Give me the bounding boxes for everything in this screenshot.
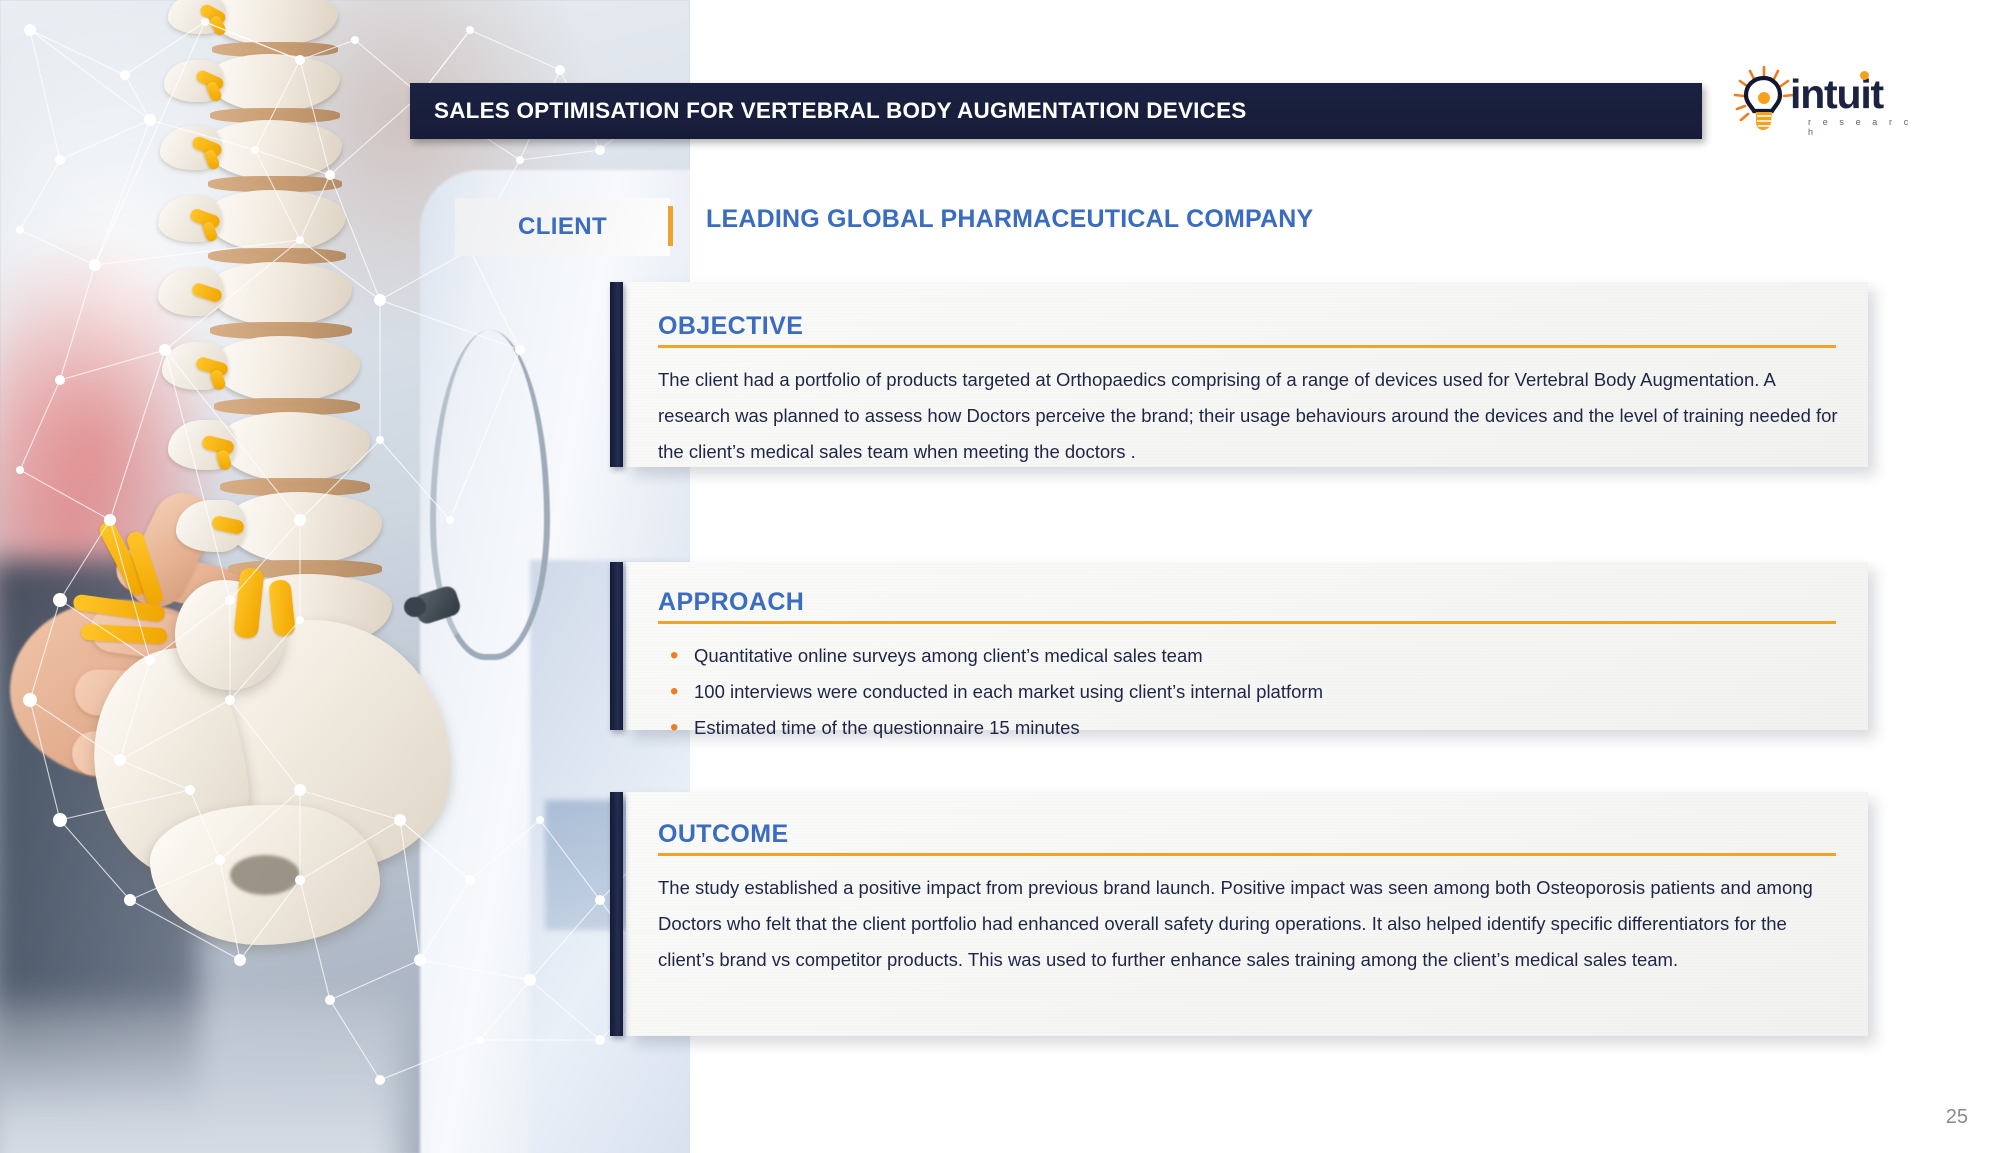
outcome-underline (658, 853, 1836, 856)
page-title: SALES OPTIMISATION FOR VERTEBRAL BODY AU… (410, 98, 1246, 124)
card-accent-bar (610, 282, 623, 467)
card-accent-bar (610, 792, 623, 1036)
logo-tagline: r e s e a r c h (1808, 117, 1928, 137)
bullet-icon: • (670, 710, 678, 746)
list-item-label: Quantitative online surveys among client… (694, 645, 1203, 666)
list-item-label: 100 interviews were conducted in each ma… (694, 681, 1323, 702)
list-item-label: Estimated time of the questionnaire 15 m… (694, 717, 1080, 738)
logo-wordmark: intuit (1790, 74, 1883, 115)
list-item: •100 interviews were conducted in each m… (658, 674, 1840, 710)
client-name: LEADING GLOBAL PHARMACEUTICAL COMPANY (706, 205, 1313, 234)
outcome-body: The study established a positive impact … (658, 870, 1840, 978)
bullet-icon: • (670, 638, 678, 674)
approach-card: APPROACH •Quantitative online surveys am… (626, 562, 1868, 730)
approach-heading: APPROACH (658, 588, 1840, 617)
client-divider (668, 206, 673, 246)
objective-heading: OBJECTIVE (658, 312, 1840, 341)
left-hero-image (0, 0, 690, 1153)
slide-title-bar: SALES OPTIMISATION FOR VERTEBRAL BODY AU… (410, 83, 1702, 139)
list-item: •Estimated time of the questionnaire 15 … (658, 710, 1840, 746)
approach-bullet-list: •Quantitative online surveys among clien… (658, 638, 1840, 746)
card-accent-bar (610, 562, 623, 730)
logo-i-dot (1860, 71, 1869, 80)
outcome-card: OUTCOME The study established a positive… (626, 792, 1868, 1036)
network-overlay-graphic (0, 0, 690, 1153)
bullet-icon: • (670, 674, 678, 710)
outcome-heading: OUTCOME (658, 820, 1840, 849)
objective-underline (658, 345, 1836, 348)
list-item: •Quantitative online surveys among clien… (658, 638, 1840, 674)
objective-body: The client had a portfolio of products t… (658, 362, 1840, 470)
slide-canvas: SALES OPTIMISATION FOR VERTEBRAL BODY AU… (0, 0, 2000, 1153)
approach-underline (658, 621, 1836, 624)
client-label: CLIENT (455, 198, 670, 256)
objective-card: OBJECTIVE The client had a portfolio of … (626, 282, 1868, 467)
intuit-research-logo[interactable]: intuit r e s e a r c h (1728, 62, 1928, 140)
page-number: 25 (1946, 1106, 1968, 1129)
client-label-box: CLIENT (455, 198, 670, 256)
